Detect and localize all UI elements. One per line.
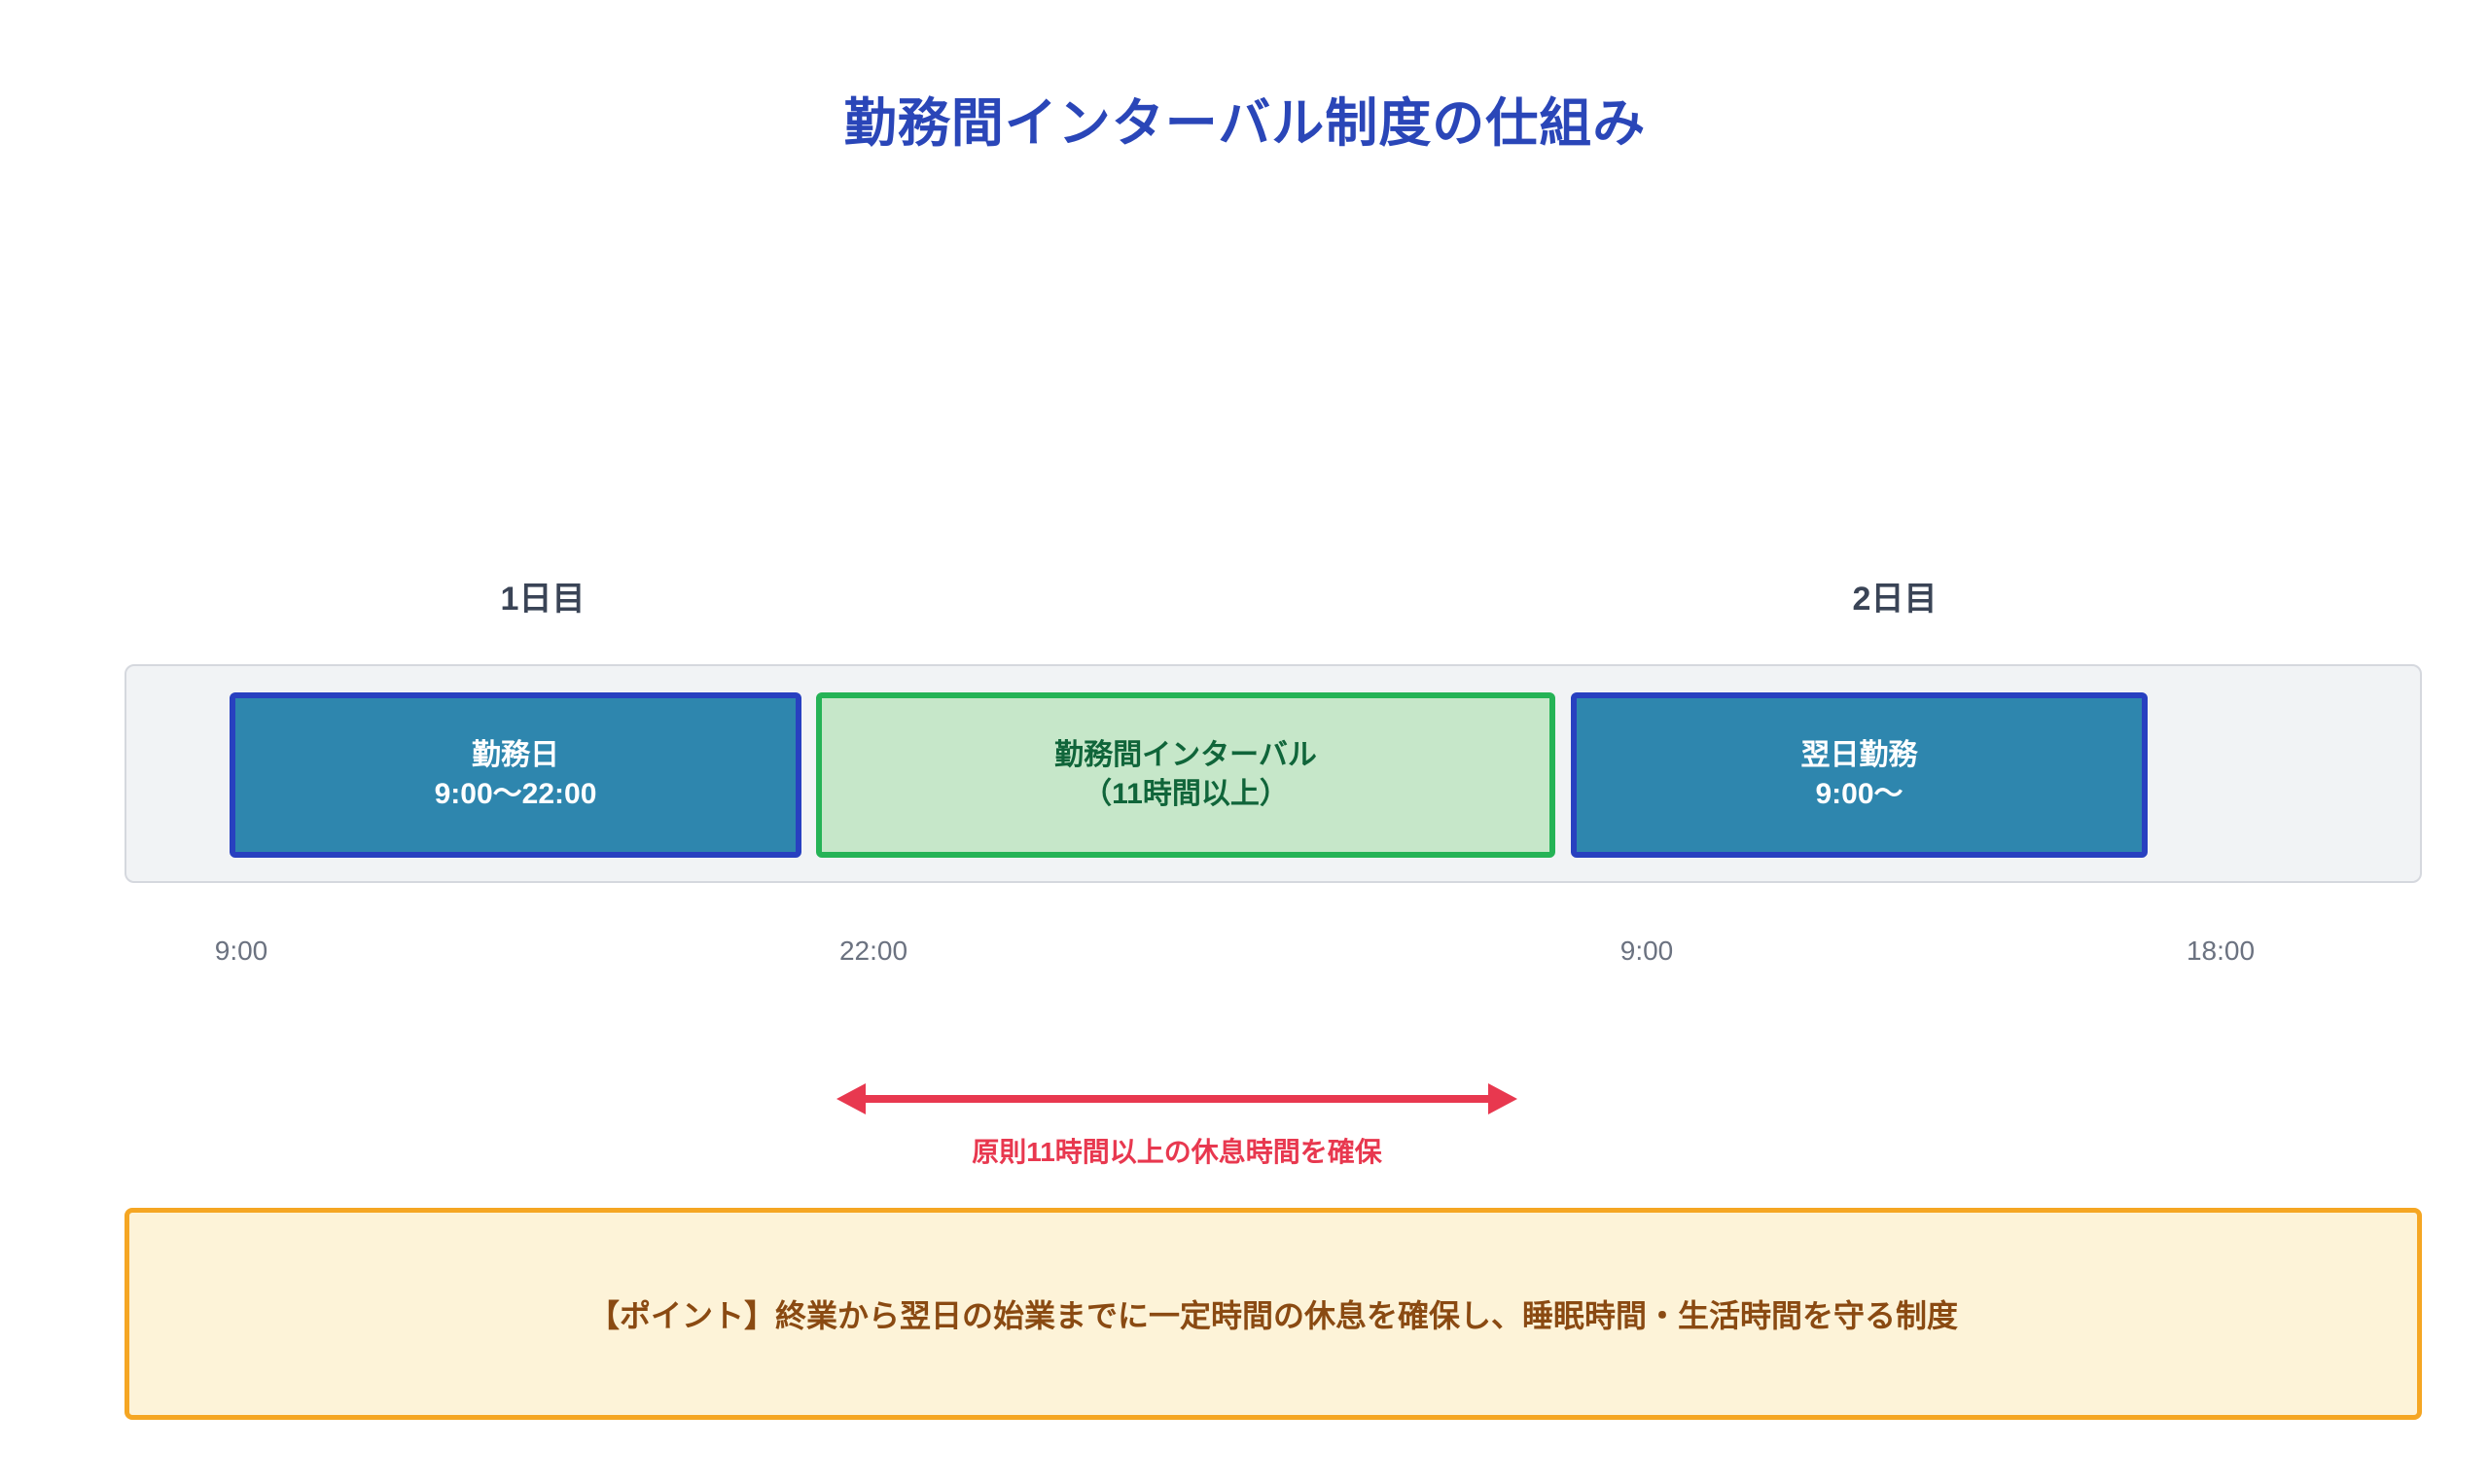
day-label-day1: 1日目: [416, 572, 669, 619]
timeline-block-nextday-title: 翌日勤務: [1801, 736, 1918, 776]
timeline-block-workday: 勤務日 9:00〜22:00: [230, 692, 801, 858]
rest-period-annotation: 原則11時間以上の休息時間を確保: [836, 1075, 1517, 1201]
point-callout-box: 【ポイント】終業から翌日の始業までに一定時間の休息を確保し、睡眠時間・生活時間を…: [124, 1208, 2422, 1420]
timeline-block-interval-title: 勤務間インターバル: [1054, 736, 1317, 776]
day-label-day2: 2日目: [1768, 572, 2021, 619]
time-tick-3: 18:00: [2152, 936, 2289, 967]
timeline-container: 勤務日 9:00〜22:00 勤務間インターバル （11時間以上） 翌日勤務 9…: [124, 664, 2422, 883]
timeline-block-nextday: 翌日勤務 9:00〜: [1571, 692, 2148, 858]
day-label-row: 1日目 2日目: [124, 572, 2422, 620]
time-tick-0: 9:00: [173, 936, 309, 967]
time-tick-1: 22:00: [805, 936, 942, 967]
page-title: 勤務間インターバル制度の仕組み: [0, 80, 2490, 157]
rest-period-label: 原則11時間以上の休息時間を確保: [836, 1131, 1517, 1170]
time-tick-2: 9:00: [1579, 936, 1715, 967]
timeline-block-interval-duration: （11時間以上）: [1083, 775, 1289, 815]
timeline-block-interval: 勤務間インターバル （11時間以上）: [816, 692, 1555, 858]
double-arrow-icon: [836, 1075, 1517, 1123]
timeline-block-workday-hours: 9:00〜22:00: [435, 775, 597, 815]
timeline-block-nextday-hours: 9:00〜: [1815, 775, 1903, 815]
time-axis: 9:00 22:00 9:00 18:00: [124, 936, 2422, 978]
timeline-block-workday-title: 勤務日: [472, 736, 559, 776]
point-callout-text: 【ポイント】終業から翌日の始業までに一定時間の休息を確保し、睡眠時間・生活時間を…: [588, 1291, 1958, 1336]
